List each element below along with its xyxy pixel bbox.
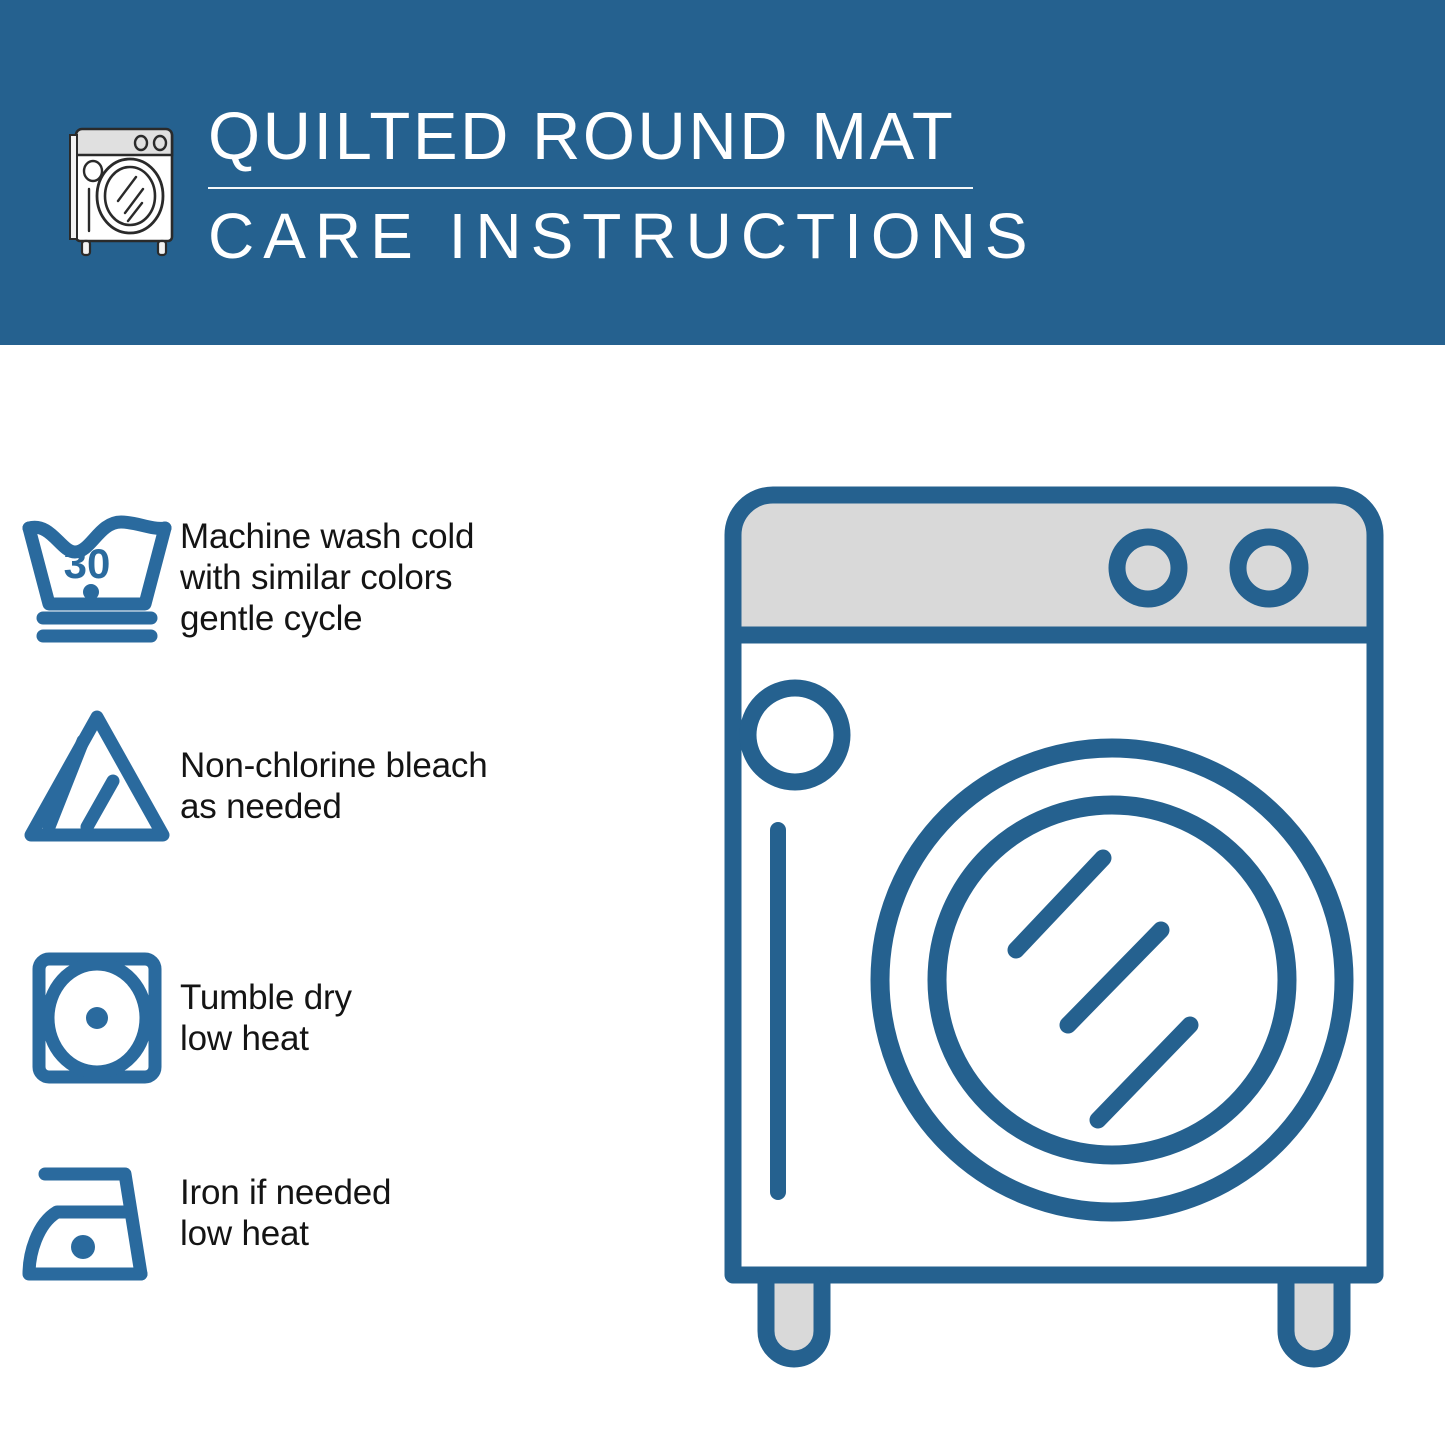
non-chlorine-bleach-triangle-icon (0, 703, 180, 853)
washer-legs (766, 1275, 1342, 1359)
iron-low-heat-icon (0, 1150, 180, 1300)
care-instructions-page: QUILTED ROUND MAT CARE INSTRUCTIONS (0, 0, 1445, 1445)
care-line: with similar colors (180, 557, 700, 598)
care-text-machine-wash: Machine wash cold with similar colors ge… (180, 500, 700, 639)
front-load-washing-machine-illustration (718, 480, 1390, 1370)
header-title-block: QUILTED ROUND MAT CARE INSTRUCTIONS (208, 98, 998, 274)
care-line: Iron if needed (180, 1172, 700, 1213)
wash-tub-30-icon: 30 (0, 500, 180, 650)
care-line: Machine wash cold (180, 516, 700, 557)
care-line: low heat (180, 1213, 700, 1254)
wash-temperature-label: 30 (64, 540, 111, 587)
care-text-iron: Iron if needed low heat (180, 1150, 700, 1254)
care-text-bleach: Non-chlorine bleach as needed (180, 703, 700, 827)
care-line: Tumble dry (180, 977, 700, 1018)
header-banner: QUILTED ROUND MAT CARE INSTRUCTIONS (0, 0, 1445, 345)
care-row-tumble-dry: Tumble dry low heat (0, 943, 700, 1093)
care-text-tumble-dry: Tumble dry low heat (180, 943, 700, 1059)
care-line: low heat (180, 1018, 700, 1059)
page-title: QUILTED ROUND MAT (208, 98, 998, 176)
tumble-dry-low-icon (0, 943, 180, 1093)
care-row-iron: Iron if needed low heat (0, 1150, 700, 1300)
page-subtitle: CARE INSTRUCTIONS (208, 198, 998, 274)
care-row-bleach: Non-chlorine bleach as needed (0, 703, 700, 853)
care-line: gentle cycle (180, 598, 700, 639)
care-line: as needed (180, 786, 700, 827)
care-row-machine-wash: 30 Machine wash cold with similar colors… (0, 500, 700, 650)
title-divider (208, 187, 973, 189)
care-line: Non-chlorine bleach (180, 745, 700, 786)
care-instruction-list: 30 Machine wash cold with similar colors… (0, 345, 700, 1445)
washing-machine-icon (62, 103, 190, 258)
